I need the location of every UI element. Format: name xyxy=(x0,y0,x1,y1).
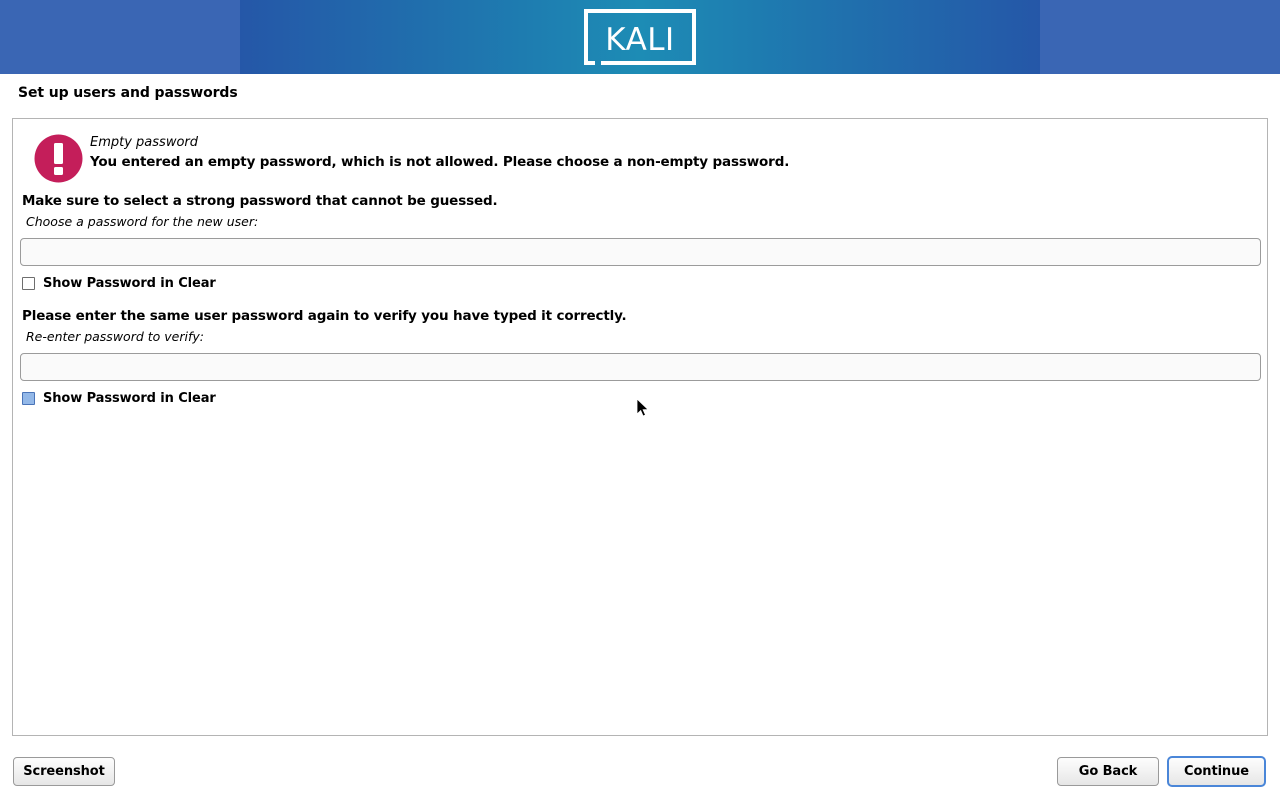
kali-logo-icon: KALI xyxy=(583,8,697,66)
show-password-label-2: Show Password in Clear xyxy=(43,391,216,406)
show-password-checkbox-row-1[interactable]: Show Password in Clear xyxy=(22,276,216,291)
verify-password-input[interactable] xyxy=(20,353,1261,381)
show-password-label-1: Show Password in Clear xyxy=(43,276,216,291)
go-back-button[interactable]: Go Back xyxy=(1057,757,1159,786)
error-title: Empty password xyxy=(90,135,198,150)
password-input[interactable] xyxy=(20,238,1261,266)
error-message: You entered an empty password, which is … xyxy=(90,154,789,170)
show-password-checkbox-2[interactable] xyxy=(22,392,35,405)
installer-banner: KALI xyxy=(0,0,1280,74)
verify-field-label: Re-enter password to verify: xyxy=(26,329,204,344)
page-title: Set up users and passwords xyxy=(18,85,238,101)
content-panel: Empty password You entered an empty pass… xyxy=(12,118,1268,736)
continue-button[interactable]: Continue xyxy=(1167,756,1266,787)
error-banner: Empty password You entered an empty pass… xyxy=(22,127,1262,189)
screenshot-button[interactable]: Screenshot xyxy=(13,757,115,786)
error-exclamation-icon xyxy=(34,134,83,183)
strong-password-hint: Make sure to select a strong password th… xyxy=(22,193,497,209)
password-field-label: Choose a password for the new user: xyxy=(26,214,258,229)
kali-logo-text: KALI xyxy=(605,22,674,58)
show-password-checkbox-row-2[interactable]: Show Password in Clear xyxy=(22,391,216,406)
verify-password-hint: Please enter the same user password agai… xyxy=(22,308,627,324)
show-password-checkbox-1[interactable] xyxy=(22,277,35,290)
